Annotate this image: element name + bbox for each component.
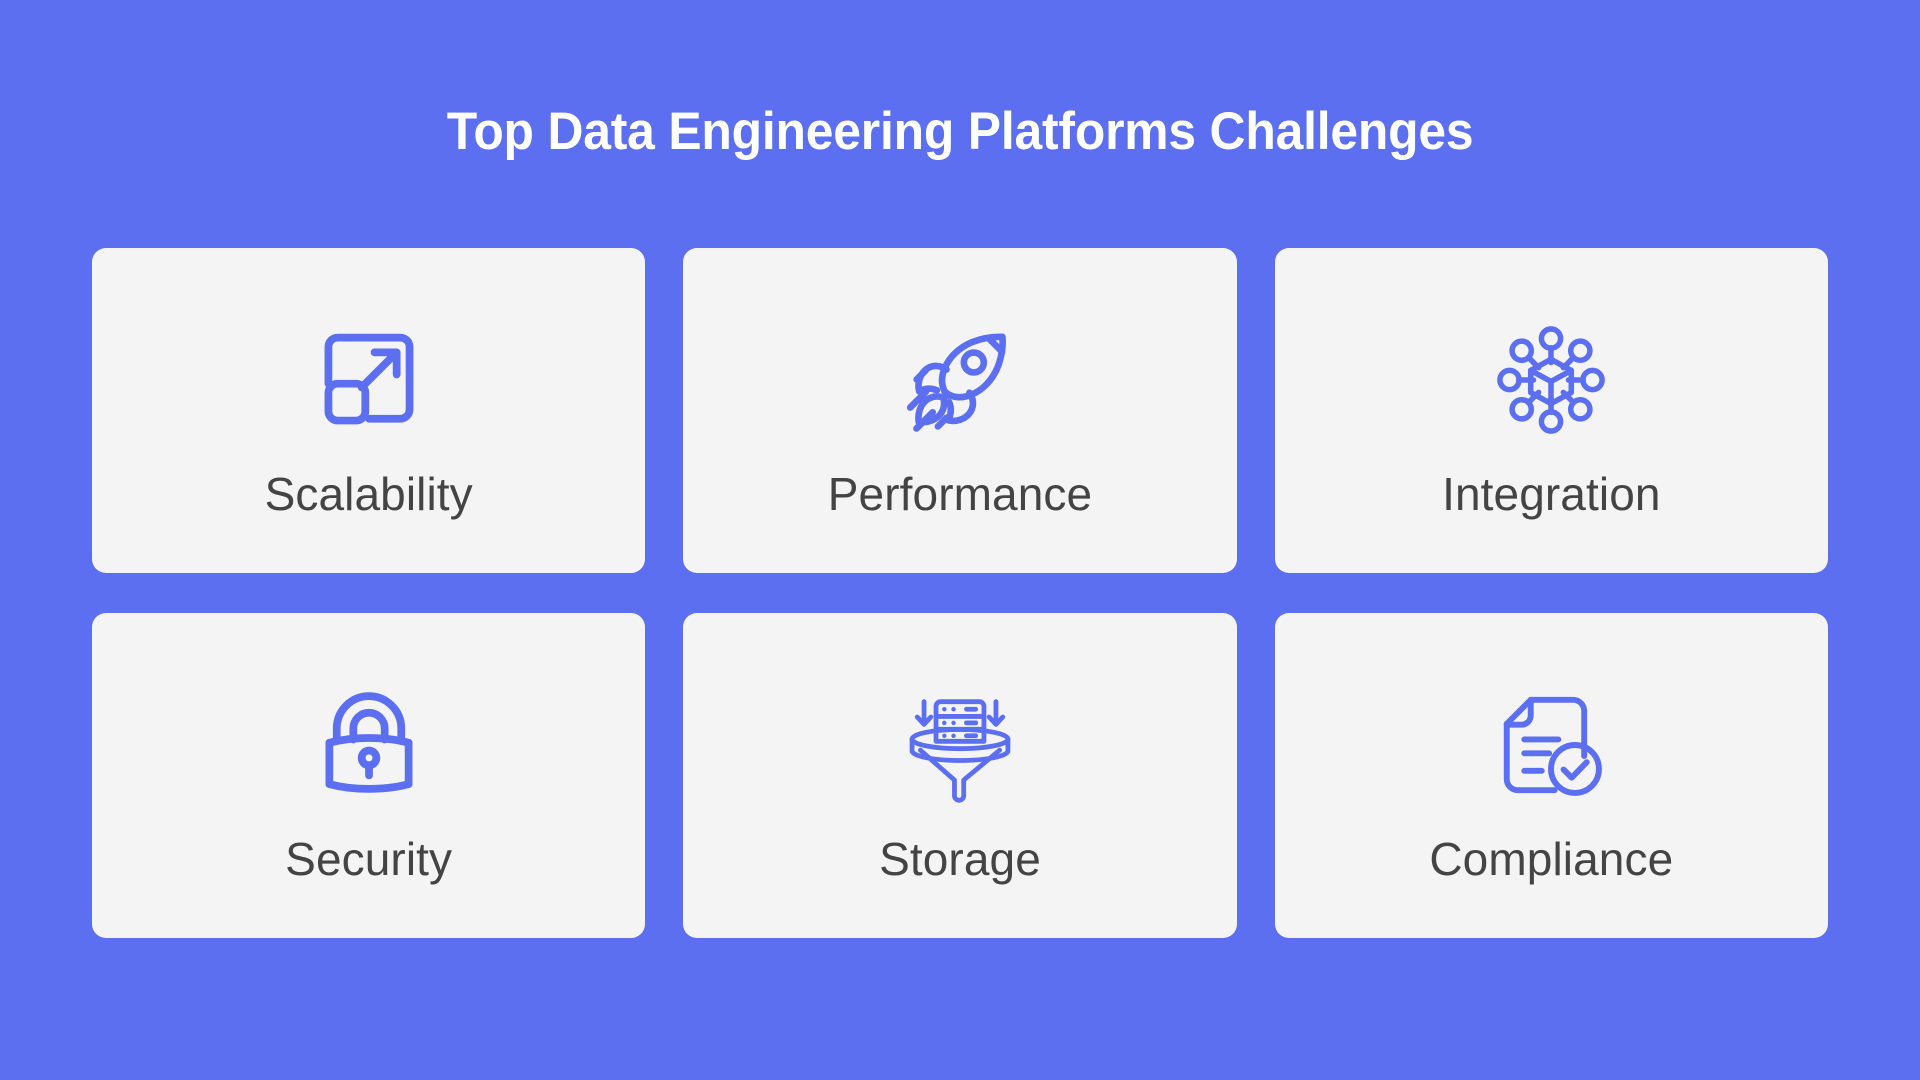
card-label: Integration: [1442, 471, 1660, 517]
card-compliance[interactable]: Compliance: [1275, 613, 1828, 938]
server-funnel-icon: [901, 680, 1019, 810]
challenge-card-grid: Scalability Performance: [92, 248, 1828, 938]
network-cube-icon: [1492, 315, 1610, 445]
card-label: Storage: [879, 836, 1041, 882]
document-check-icon: [1492, 680, 1610, 810]
page-title: Top Data Engineering Platforms Challenge…: [447, 105, 1474, 158]
card-label: Security: [285, 836, 452, 882]
card-scalability[interactable]: Scalability: [92, 248, 645, 573]
infographic-canvas: Top Data Engineering Platforms Challenge…: [0, 0, 1920, 1080]
card-performance[interactable]: Performance: [683, 248, 1236, 573]
card-storage[interactable]: Storage: [683, 613, 1236, 938]
card-label: Performance: [828, 471, 1092, 517]
rocket-icon: [901, 315, 1019, 445]
expand-arrow-icon: [310, 315, 428, 445]
card-security[interactable]: Security: [92, 613, 645, 938]
padlock-icon: [310, 680, 428, 810]
card-label: Compliance: [1429, 836, 1673, 882]
card-label: Scalability: [265, 471, 473, 517]
card-integration[interactable]: Integration: [1275, 248, 1828, 573]
